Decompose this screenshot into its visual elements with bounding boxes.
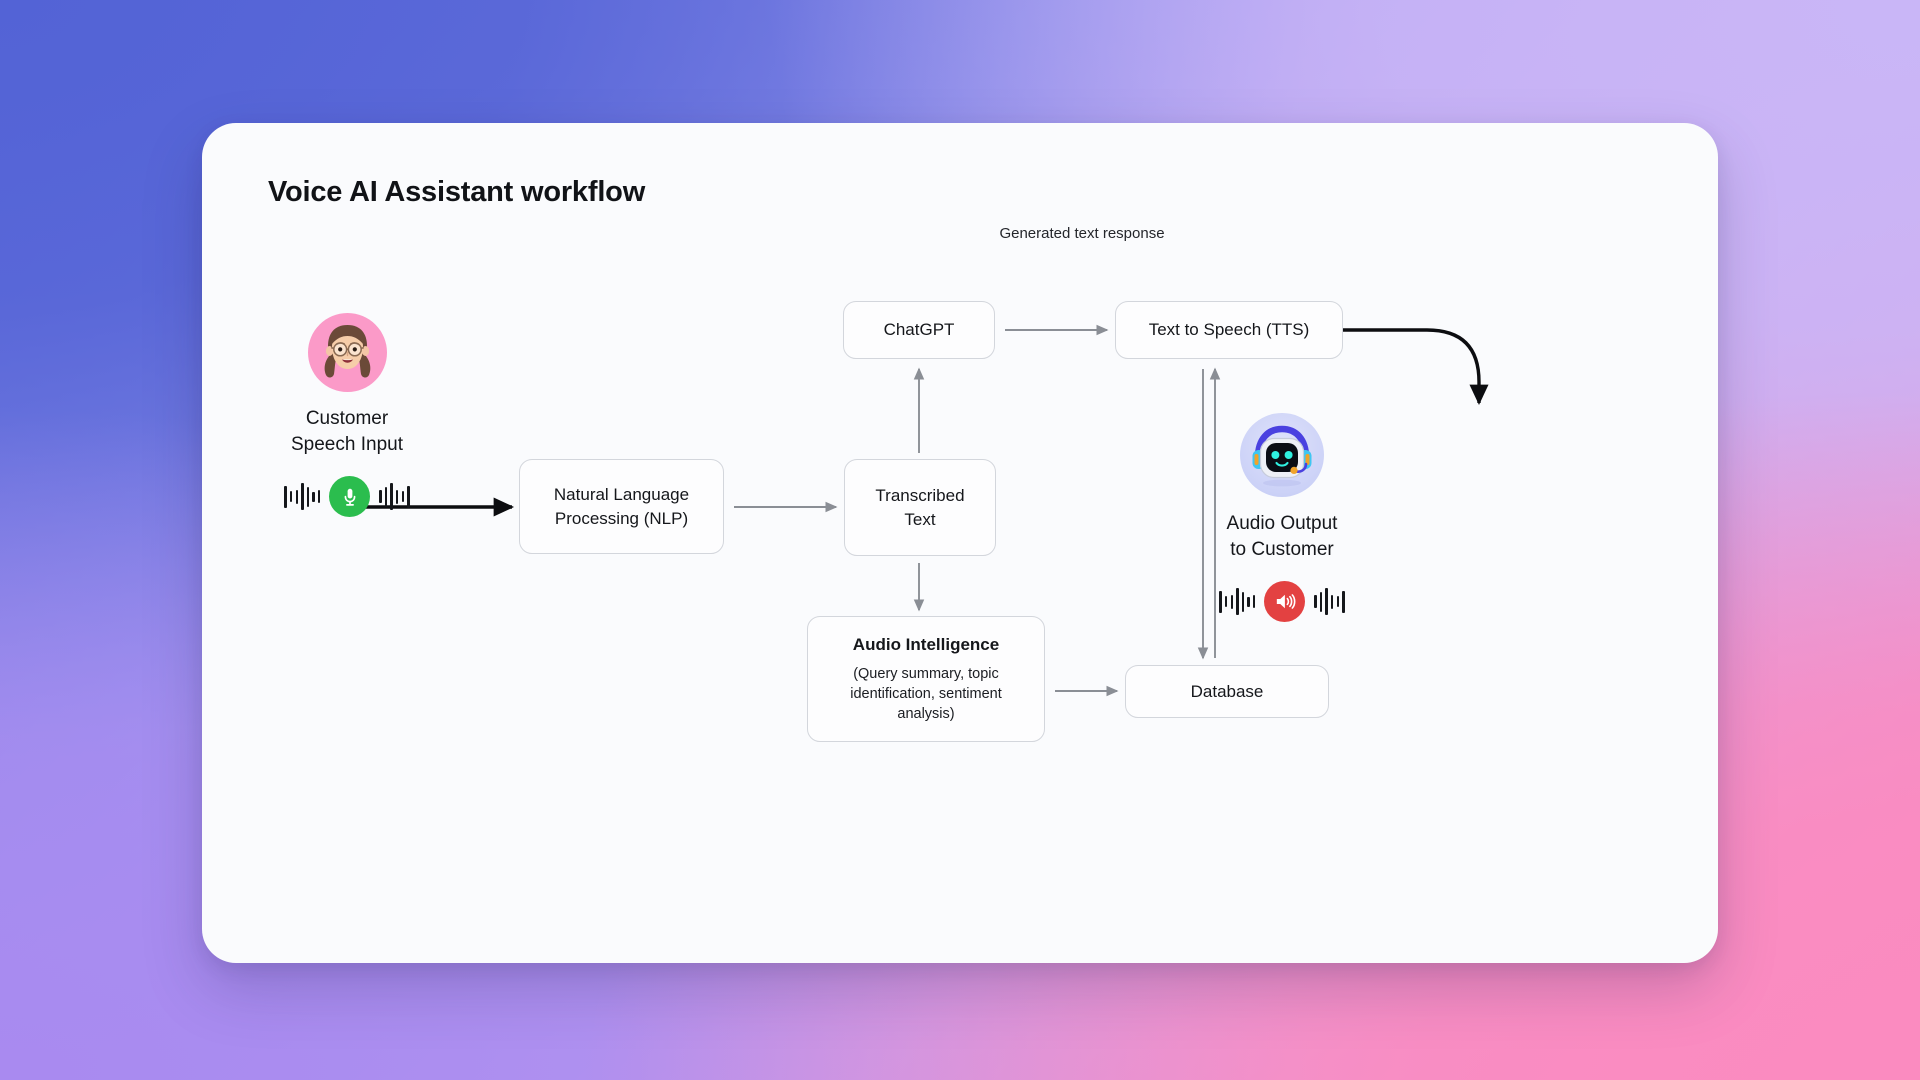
audio-waveform-icon-left: [284, 480, 320, 514]
microphone-button[interactable]: [329, 476, 370, 517]
workflow-card: Voice AI Assistant workflow: [202, 123, 1718, 963]
node-transcribed-text[interactable]: Transcribed Text: [844, 459, 996, 556]
node-label-line: Text: [904, 508, 935, 532]
audio-waveform-icon-right: [1314, 585, 1344, 619]
speaker-button[interactable]: [1264, 581, 1305, 622]
node-label-line: Database: [1191, 680, 1264, 704]
node-audio-intelligence[interactable]: Audio Intelligence (Query summary, topic…: [807, 616, 1045, 742]
customer-label-line1: Customer: [238, 406, 456, 432]
node-natural-language-processing[interactable]: Natural Language Processing (NLP): [519, 459, 724, 554]
node-label-line: ChatGPT: [884, 318, 955, 342]
audio-output-group: Audio Output to Customer: [1174, 413, 1390, 622]
audio-waveform-icon-right: [379, 480, 409, 514]
speaker-volume-icon: [1273, 590, 1296, 613]
node-subtitle: (Query summary, topic identification, se…: [808, 664, 1044, 724]
audio-output-label: Audio Output to Customer: [1174, 511, 1390, 563]
customer-label-line2: Speech Input: [238, 432, 456, 458]
edge-label-generated-text-response: Generated text response: [972, 223, 1192, 244]
node-label-line: Text to Speech (TTS): [1149, 318, 1310, 342]
node-label-line: Transcribed: [875, 484, 964, 508]
node-chatgpt[interactable]: ChatGPT: [843, 301, 995, 359]
node-database[interactable]: Database: [1125, 665, 1329, 718]
node-label-line: Natural Language: [554, 483, 689, 507]
speaker-control-row: [1174, 581, 1390, 622]
arrow-tts-to-audio-output: [1343, 330, 1479, 403]
node-title: Audio Intelligence: [853, 635, 999, 655]
customer-speech-input-group: Customer Speech Input: [238, 313, 456, 517]
audio-waveform-icon-left: [1219, 585, 1255, 619]
node-text-to-speech[interactable]: Text to Speech (TTS): [1115, 301, 1343, 359]
woman-avatar-memoji-icon: [308, 313, 387, 392]
audio-output-label-line2: to Customer: [1174, 537, 1390, 563]
microphone-control-row: [238, 476, 456, 517]
audio-output-label-line1: Audio Output: [1174, 511, 1390, 537]
customer-label: Customer Speech Input: [238, 406, 456, 458]
robot-headset-icon: [1240, 413, 1324, 497]
microphone-icon: [339, 486, 361, 508]
node-label-line: Processing (NLP): [555, 507, 688, 531]
